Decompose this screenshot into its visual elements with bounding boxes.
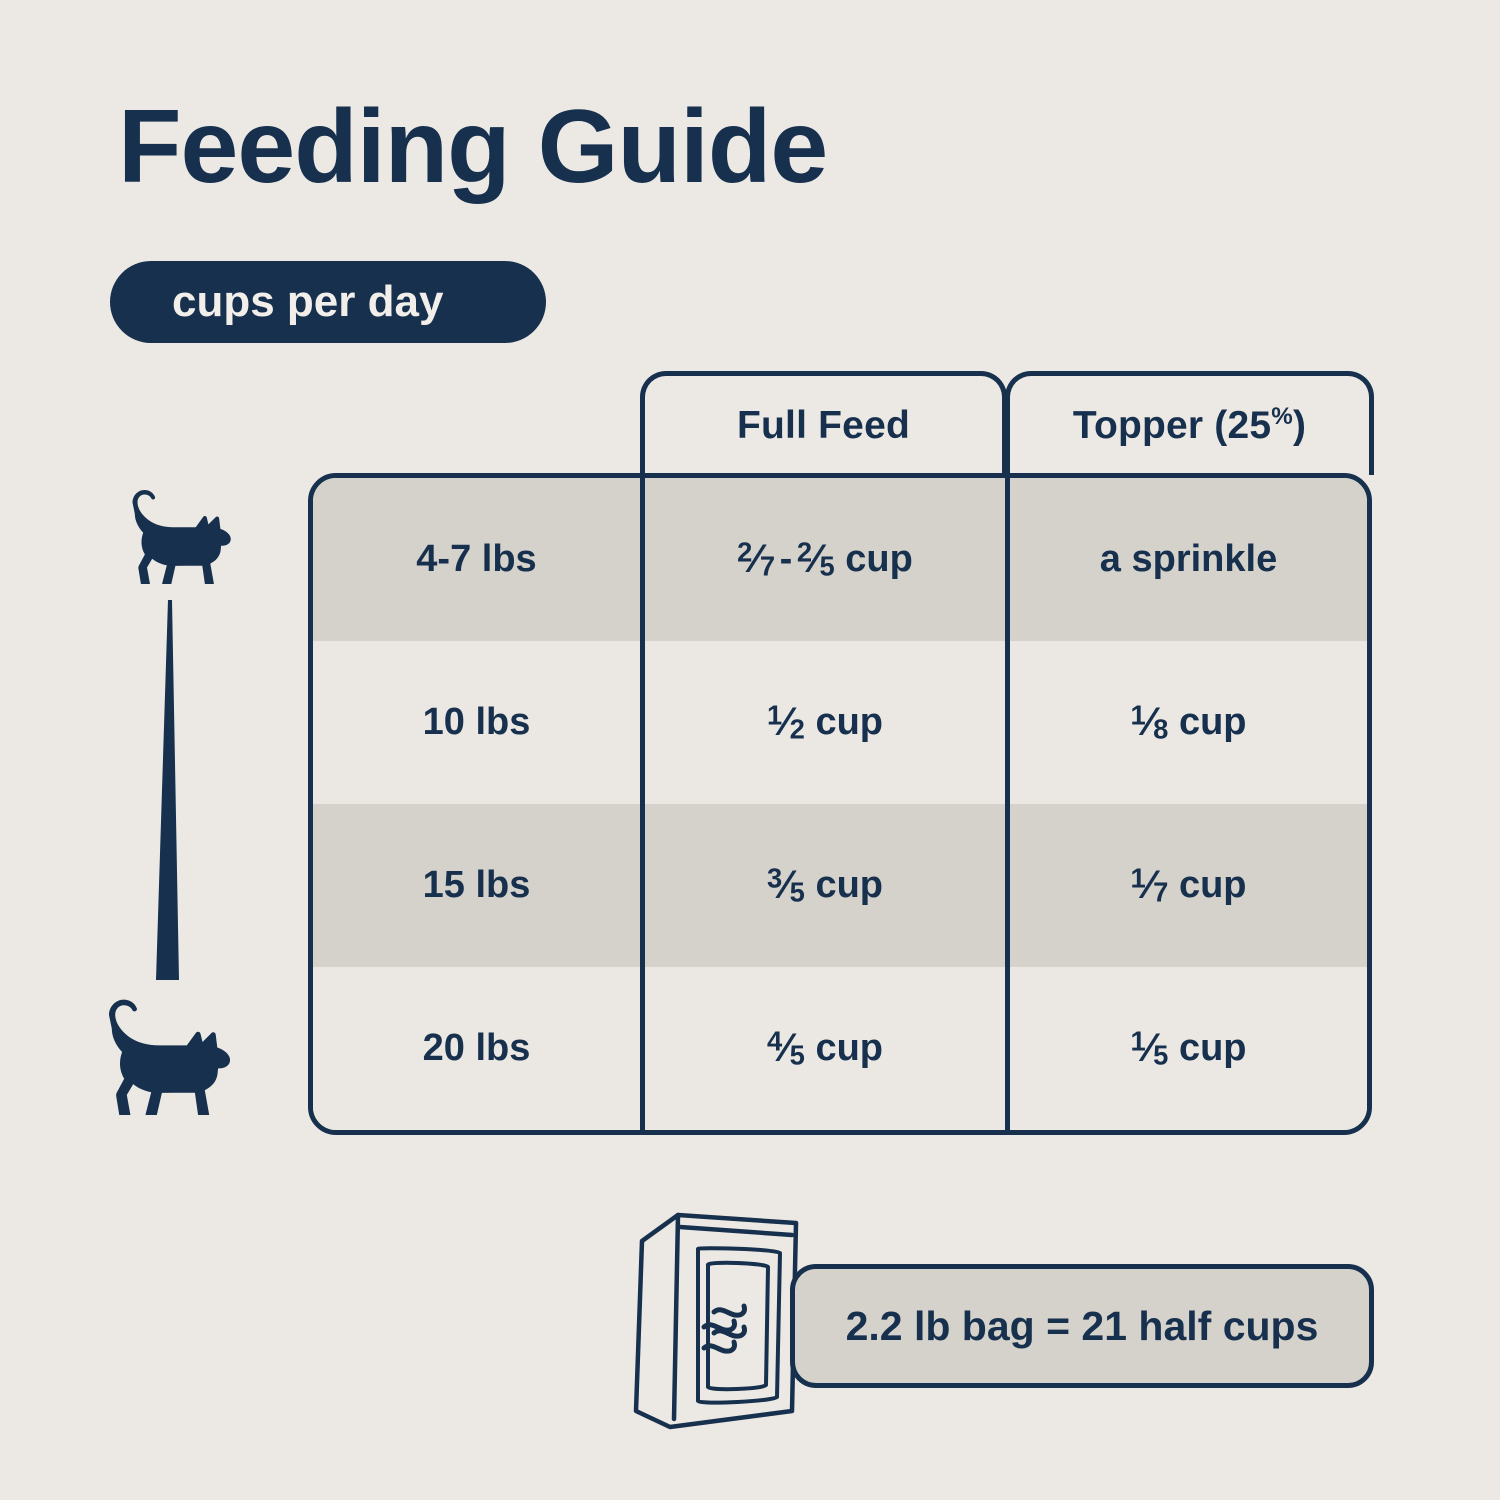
table-row: 10 lbs 1⁄2 cup 1⁄8 cup (313, 641, 1367, 804)
column-header-topper: Topper (25%) (1005, 371, 1374, 475)
feeding-table: 4-7 lbs 2⁄7-2⁄5 cup a sprinkle 10 lbs 1⁄… (308, 473, 1372, 1135)
feeding-guide-infographic: Feeding Guide cups per day Full Feed Top… (0, 0, 1500, 1500)
page-title: Feeding Guide (118, 95, 827, 199)
cell-weight: 15 lbs (313, 804, 640, 967)
bag-yield-banner: 2.2 lb bag = 21 half cups (790, 1264, 1374, 1388)
column-header-full-feed: Full Feed (640, 371, 1007, 475)
fraction: 3⁄5 (767, 863, 805, 908)
bag-yield-label: 2.2 lb bag = 21 half cups (846, 1303, 1319, 1350)
cell-full-feed: 2⁄7-2⁄5 cup (640, 478, 1005, 641)
cell-full-feed: 3⁄5 cup (640, 804, 1005, 967)
badge-label: cups per day (172, 280, 443, 324)
column-header-full-feed-label: Full Feed (737, 404, 910, 448)
cell-weight: 10 lbs (313, 641, 640, 804)
cell-full-feed: 1⁄2 cup (640, 641, 1005, 804)
fraction: 1⁄7 (1130, 863, 1168, 908)
cell-weight: 4-7 lbs (313, 478, 640, 641)
table-row: 20 lbs 4⁄5 cup 1⁄5 cup (313, 967, 1367, 1130)
fraction: 1⁄2 (767, 700, 805, 745)
cell-topper: 1⁄8 cup (1005, 641, 1367, 804)
cat-silhouette-icon-large (88, 995, 264, 1115)
cell-full-feed: 4⁄5 cup (640, 967, 1005, 1130)
fraction: 1⁄8 (1130, 700, 1168, 745)
fraction: 2⁄7 (737, 537, 775, 582)
cat-silhouette-icon-small (118, 486, 238, 584)
column-header-topper-label: Topper (25%) (1073, 404, 1306, 448)
fraction: 2⁄5 (797, 537, 835, 582)
cell-topper: 1⁄5 cup (1005, 967, 1367, 1130)
size-wedge-icon (148, 600, 208, 980)
table-row: 4-7 lbs 2⁄7-2⁄5 cup a sprinkle (313, 478, 1367, 641)
cups-per-day-badge: cups per day (110, 261, 546, 343)
cell-weight: 20 lbs (313, 967, 640, 1130)
fraction: 4⁄5 (767, 1026, 805, 1071)
cell-topper: 1⁄7 cup (1005, 804, 1367, 967)
cell-topper: a sprinkle (1005, 478, 1367, 641)
table-row: 15 lbs 3⁄5 cup 1⁄7 cup (313, 804, 1367, 967)
fraction: 1⁄5 (1130, 1026, 1168, 1071)
